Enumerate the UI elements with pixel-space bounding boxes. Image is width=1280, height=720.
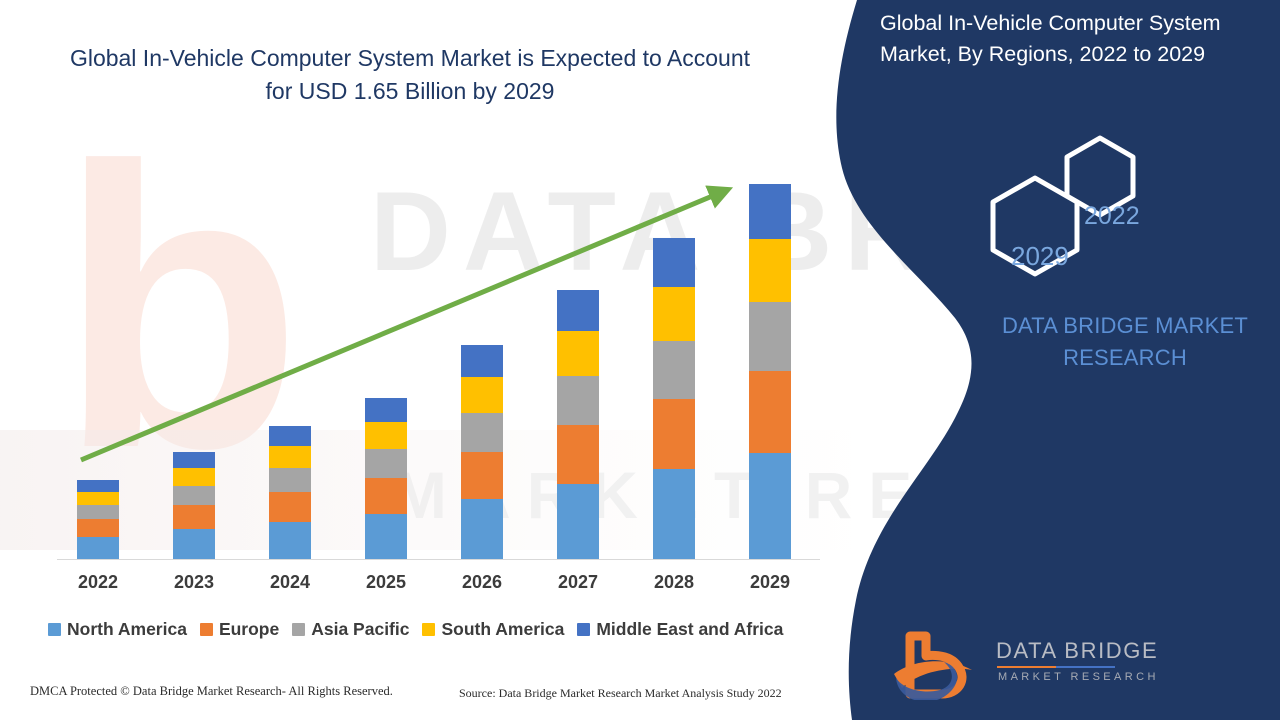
panel-brand-line1: DATA BRIDGE MARKET (1002, 313, 1248, 338)
x-axis-labels: 20222023202420252026202720282029 (0, 572, 880, 602)
legend-label: North America (67, 619, 187, 640)
hexagon-label-2029: 2029 (1011, 241, 1069, 272)
x-label-2027: 2027 (548, 572, 608, 593)
legend-label: Europe (219, 619, 279, 640)
trend-arrow-icon (0, 0, 880, 600)
legend-swatch (422, 623, 435, 636)
x-label-2023: 2023 (164, 572, 224, 593)
legend-label: Asia Pacific (311, 619, 409, 640)
x-label-2026: 2026 (452, 572, 512, 593)
legend-label: South America (441, 619, 564, 640)
x-label-2029: 2029 (740, 572, 800, 593)
legend-item-europe[interactable]: Europe (200, 619, 279, 640)
panel-brand-line2: RESEARCH (1063, 345, 1187, 370)
legend-item-asia-pacific[interactable]: Asia Pacific (292, 619, 409, 640)
stacked-bar-chart: 20222023202420252026202720282029 (0, 0, 880, 600)
legend-item-middle-east-and-africa[interactable]: Middle East and Africa (577, 619, 783, 640)
legend-swatch (48, 623, 61, 636)
x-label-2022: 2022 (68, 572, 128, 593)
x-label-2028: 2028 (644, 572, 704, 593)
legend-item-south-america[interactable]: South America (422, 619, 564, 640)
legend-label: Middle East and Africa (596, 619, 783, 640)
chart-legend: North AmericaEuropeAsia PacificSouth Ame… (48, 616, 838, 642)
logo-divider (997, 666, 1115, 668)
logo-mark-icon (888, 630, 988, 700)
legend-item-north-america[interactable]: North America (48, 619, 187, 640)
logo-text-secondary: MARKET RESEARCH (998, 671, 1159, 683)
infographic-canvas: b DATA BRIDGE MARKET RESEARCH Global In-… (0, 0, 1280, 720)
source-notice: Source: Data Bridge Market Research Mark… (459, 686, 782, 701)
hexagon-label-2022: 2022 (1084, 202, 1140, 231)
panel-brand-text: DATA BRIDGE MARKET RESEARCH (975, 310, 1275, 374)
x-label-2024: 2024 (260, 572, 320, 593)
legend-swatch (200, 623, 213, 636)
copyright-notice: DMCA Protected © Data Bridge Market Rese… (30, 684, 393, 699)
panel-title: Global In-Vehicle Computer System Market… (880, 8, 1272, 69)
logo-text-primary: DATA BRIDGE (996, 638, 1158, 664)
legend-swatch (577, 623, 590, 636)
legend-swatch (292, 623, 305, 636)
data-bridge-logo: DATA BRIDGE MARKET RESEARCH (888, 628, 1118, 700)
hexagon-badges: 2022 2029 (975, 130, 1185, 295)
x-label-2025: 2025 (356, 572, 416, 593)
